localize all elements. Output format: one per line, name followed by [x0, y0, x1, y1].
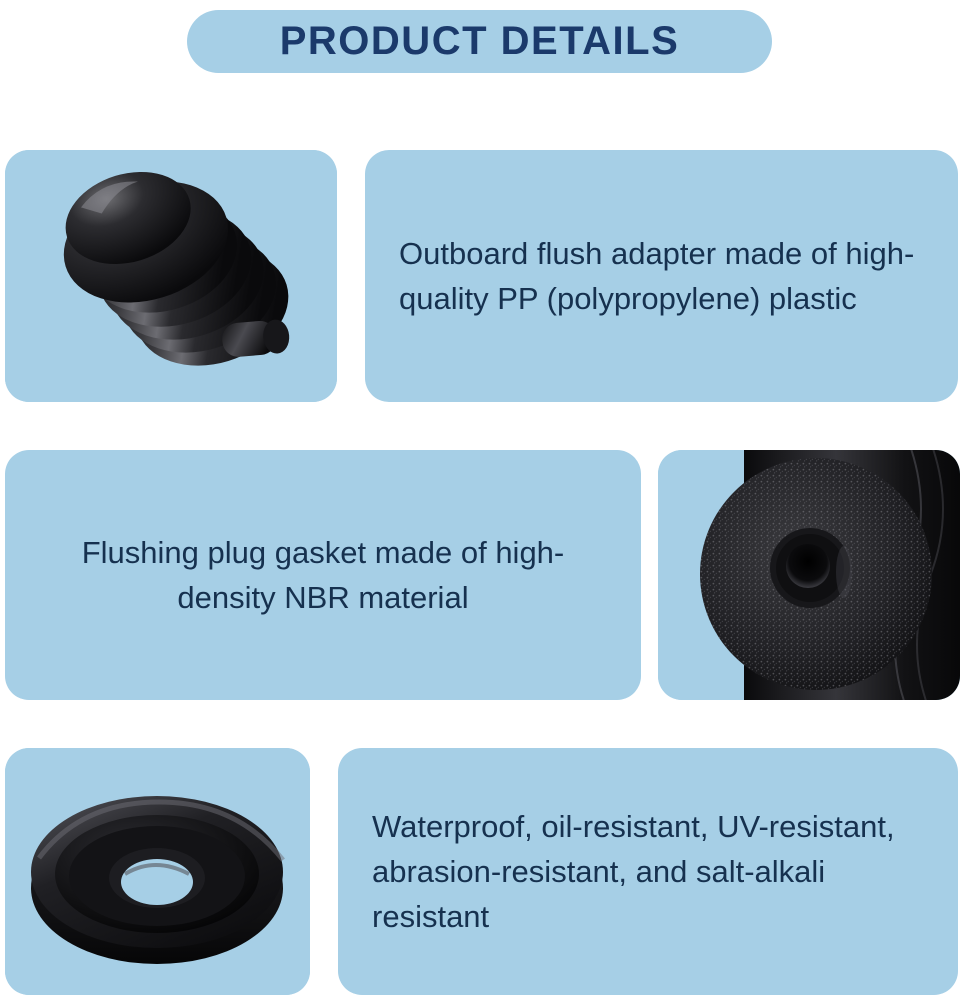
detail-card-material-text: Outboard flush adapter made of high-qual…: [399, 231, 924, 322]
detail-card-material: Outboard flush adapter made of high-qual…: [365, 150, 958, 402]
product-photo-rubber-gasket: [5, 748, 310, 995]
rubber-gasket-ring-icon: [5, 748, 310, 995]
page-title: PRODUCT DETAILS: [280, 19, 680, 64]
detail-card-resistance-text: Waterproof, oil-resistant, UV-resistant,…: [372, 804, 924, 940]
page-title-pill: PRODUCT DETAILS: [187, 10, 772, 73]
textured-disc-closeup-icon: [658, 450, 960, 700]
product-photo-flush-adapter-plug: [5, 150, 337, 402]
product-photo-textured-disc: [658, 450, 960, 700]
flush-adapter-plug-icon: [5, 150, 337, 402]
detail-card-resistance: Waterproof, oil-resistant, UV-resistant,…: [338, 748, 958, 995]
detail-card-gasket: Flushing plug gasket made of high-densit…: [5, 450, 641, 700]
product-details-infographic: PRODUCT DETAILS: [0, 0, 964, 1000]
detail-card-gasket-text: Flushing plug gasket made of high-densit…: [39, 530, 607, 621]
